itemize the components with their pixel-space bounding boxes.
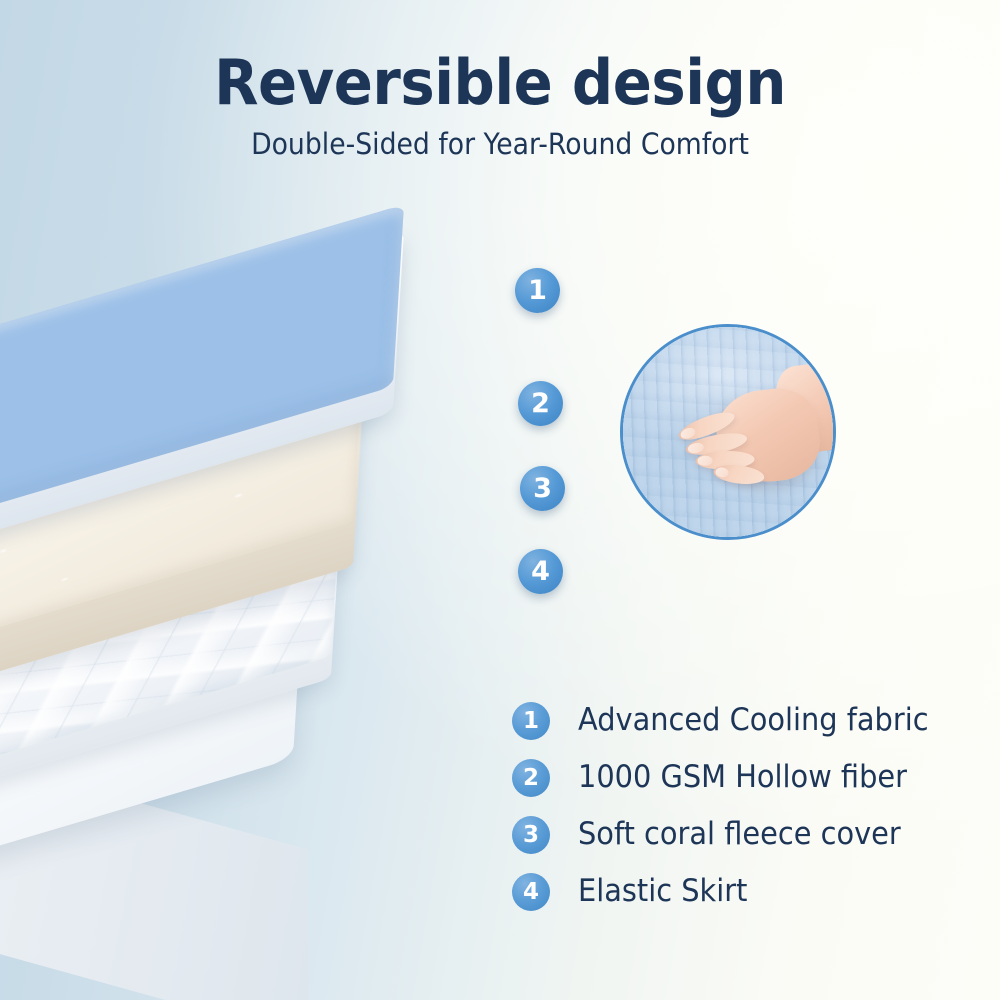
callout-badge-1[interactable]: 1: [515, 268, 560, 313]
legend-badge-3: 3: [512, 816, 550, 854]
legend-item-2[interactable]: 2 1000 GSM Hollow fiber: [512, 757, 982, 814]
fingernail: [679, 427, 697, 442]
fingernail: [686, 442, 704, 455]
hand-illustration: [677, 384, 822, 492]
legend-list: 1 Advanced Cooling fabric 2 1000 GSM Hol…: [512, 700, 982, 928]
legend-item-3[interactable]: 3 Soft coral fleece cover: [512, 814, 982, 871]
product-infographic: Reversible design Double-Sided for Year-…: [0, 0, 1000, 1000]
legend-badge-2: 2: [512, 759, 550, 797]
callout-badge-2[interactable]: 2: [518, 381, 563, 426]
legend-label-4: Elastic Skirt: [578, 870, 747, 912]
legend-label-3: Soft coral fleece cover: [578, 813, 901, 855]
fingernail: [697, 456, 713, 466]
legend-item-1[interactable]: 1 Advanced Cooling fabric: [512, 700, 982, 757]
legend-badge-4: 4: [512, 873, 550, 911]
legend-badge-1: 1: [512, 702, 550, 740]
callout-badge-4[interactable]: 4: [518, 549, 563, 594]
legend-label-1: Advanced Cooling fabric: [578, 699, 929, 741]
callout-badge-3[interactable]: 3: [520, 466, 565, 511]
detail-inset-circle: [620, 324, 836, 540]
page-title: Reversible design: [35, 52, 965, 114]
fingernail: [714, 467, 728, 479]
legend-item-4[interactable]: 4 Elastic Skirt: [512, 871, 982, 928]
header: Reversible design Double-Sided for Year-…: [0, 52, 1000, 159]
legend-label-2: 1000 GSM Hollow fiber: [578, 756, 907, 798]
